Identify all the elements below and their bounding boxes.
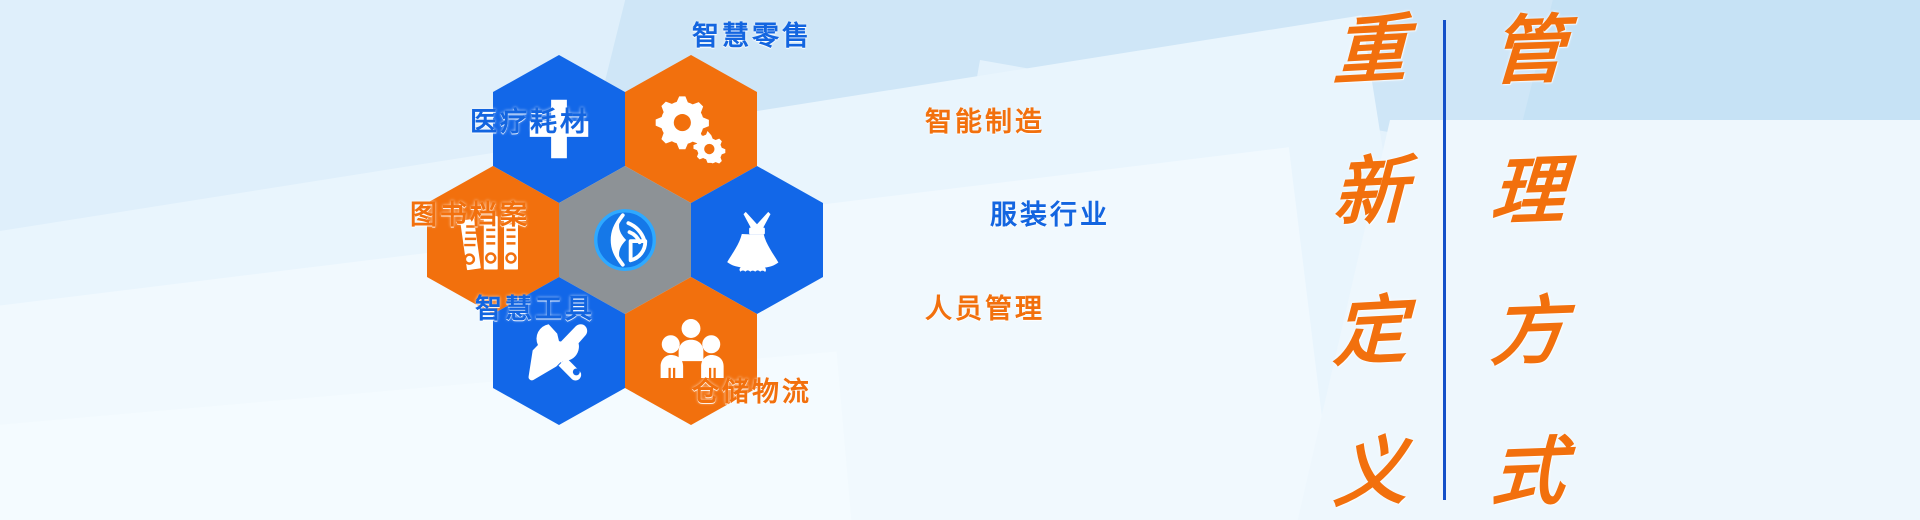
label-apparel-industry: 服装行业 (990, 193, 1110, 232)
slogan-char: 管 (1489, 13, 1567, 90)
background-decoration (0, 0, 1920, 520)
label-medical-supplies: 医疗耗材 (470, 100, 590, 139)
calligraphy-slogan: 重 新 定 义 管 理 方 式 (1290, 0, 1620, 520)
slogan-char: 定 (1332, 293, 1407, 371)
label-personnel-management: 人员管理 (925, 287, 1045, 326)
slogan-column-right: 管 理 方 式 (1468, 14, 1588, 510)
slogan-char: 新 (1332, 153, 1407, 231)
label-warehouse-logistics: 仓储物流 (692, 370, 812, 409)
slogan-column-left: 重 新 定 义 (1310, 14, 1430, 510)
label-smart-tools: 智慧工具 (475, 287, 595, 326)
promo-banner: 智慧零售 医疗耗材 智能制造 图书档案 服装行业 智慧工具 人员管理 仓储物流 … (0, 0, 1920, 520)
dress-icon (721, 204, 793, 276)
slogan-char: 义 (1332, 434, 1407, 512)
slogan-char: 式 (1489, 435, 1567, 512)
gears-icon (655, 93, 727, 165)
brand-logo-icon (589, 204, 661, 276)
slogan-divider (1443, 20, 1446, 500)
slogan-char: 理 (1489, 153, 1567, 230)
slogan-char: 方 (1489, 294, 1567, 371)
slogan-char: 重 (1332, 12, 1407, 90)
label-library-archives: 图书档案 (410, 193, 530, 232)
label-smart-manufacturing: 智能制造 (925, 100, 1045, 139)
label-smart-retail: 智慧零售 (692, 14, 812, 53)
